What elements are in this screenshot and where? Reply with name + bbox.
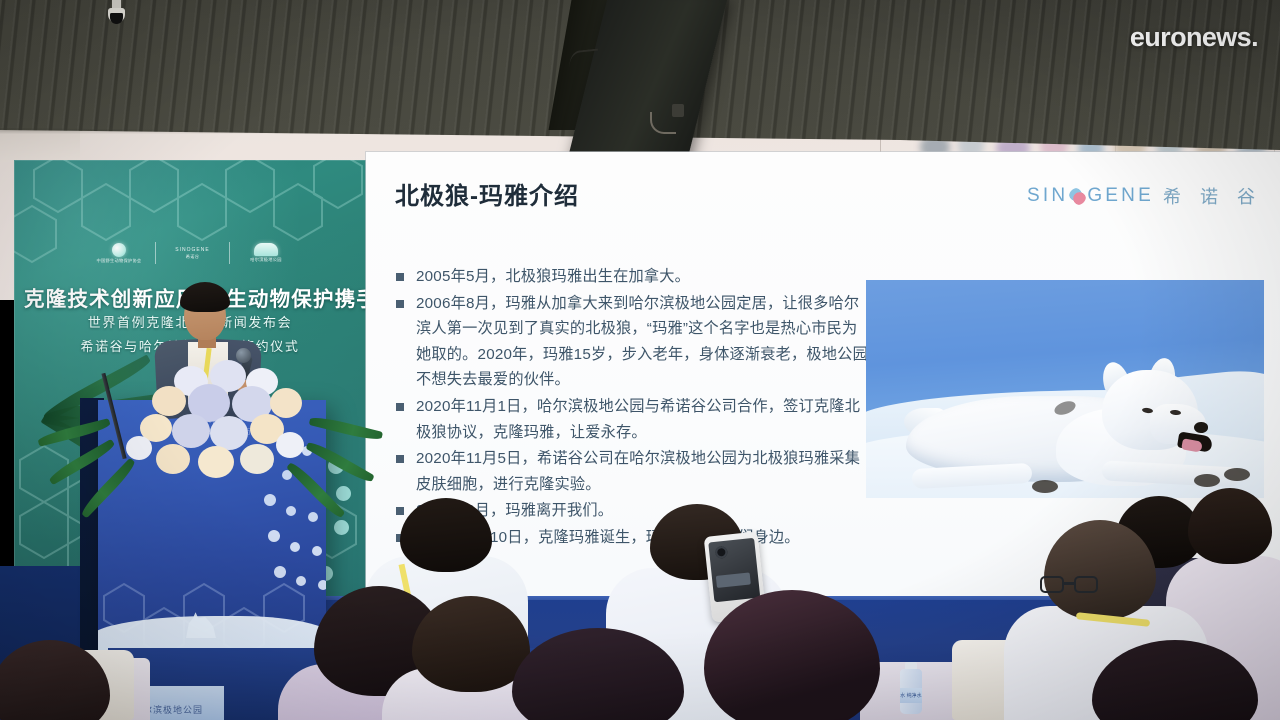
sinogene-logo-latin-part1: SIN bbox=[1027, 185, 1068, 207]
eyeglasses-icon bbox=[1040, 576, 1098, 593]
partner-logo-2: SINOGENE 希诺谷 bbox=[164, 238, 222, 268]
partner-logo-1-label: 中国野生动物保护协会 bbox=[97, 258, 142, 263]
sinogene-logo: SIN GENE 希 诺 谷 bbox=[1027, 183, 1262, 209]
bullet-square-icon bbox=[396, 455, 404, 463]
partner-logo-1: 中国野生动物保护协会 bbox=[90, 238, 148, 268]
sinogene-logo-latin-part2: GENE bbox=[1087, 185, 1154, 207]
bullet-text: 2006年8月，玛雅从加拿大来到哈尔滨极地公园定居，让很多哈尔滨人第一次见到了真… bbox=[416, 291, 868, 393]
list-item: 2020年11月1日，哈尔滨极地公园与希诺谷公司合作，签订克隆北极狼协议，克隆玛… bbox=[396, 394, 868, 445]
bottle-label-text: 水 纯净水 bbox=[900, 692, 921, 699]
partner-logo-2-label: 希诺谷 bbox=[186, 254, 199, 259]
water-bottle-icon: 水 纯净水 bbox=[900, 662, 922, 714]
bullet-text: 2020年11月5日，希诺谷公司在哈尔滨极地公园为北极狼玛雅采集皮肤细胞，进行克… bbox=[416, 446, 868, 497]
screenshot-root: 中国野生动物保护协会 SINOGENE 希诺谷 哈尔滨极地公园 克隆技术创新应用… bbox=[0, 0, 1280, 720]
circle-emblem-icon bbox=[112, 243, 126, 257]
bullet-square-icon bbox=[396, 273, 404, 281]
sinogene-logo-latin: SIN GENE bbox=[1027, 185, 1154, 207]
sinogene-logo-chinese: 希 诺 谷 bbox=[1163, 183, 1262, 209]
banner-partner-logos: 中国野生动物保护协会 SINOGENE 希诺谷 哈尔滨极地公园 bbox=[90, 238, 295, 268]
list-item: 2006年8月，玛雅从加拿大来到哈尔滨极地公园定居，让很多哈尔滨人第一次见到了真… bbox=[396, 291, 868, 393]
bullet-square-icon bbox=[396, 403, 404, 411]
arch-emblem-icon bbox=[254, 243, 278, 256]
security-camera-icon bbox=[108, 0, 125, 34]
list-item: 2020年11月5日，希诺谷公司在哈尔滨极地公园为北极狼玛雅采集皮肤细胞，进行克… bbox=[396, 446, 868, 497]
bullet-square-icon bbox=[396, 300, 404, 308]
arctic-wolf-maya-photo bbox=[866, 280, 1264, 498]
bullet-text: 2020年11月1日，哈尔滨极地公园与希诺谷公司合作，签订克隆北极狼协议，克隆玛… bbox=[416, 394, 868, 445]
slide-title: 北极狼-玛雅介绍 bbox=[395, 176, 579, 211]
attendee-long-hair-right bbox=[690, 590, 890, 720]
sinogene-o-mark-icon bbox=[1069, 188, 1086, 205]
list-item: 2005年5月，北极狼玛雅出生在加拿大。 bbox=[396, 264, 868, 290]
partner-logo-3-label: 哈尔滨极地公园 bbox=[250, 257, 281, 262]
attendee-long-hair-center bbox=[500, 628, 700, 720]
partner-logo-2-latin: SINOGENE bbox=[175, 247, 209, 253]
wall-sensor-icon bbox=[672, 104, 684, 117]
wall-cable bbox=[568, 49, 602, 92]
bullet-text: 2005年5月，北极狼玛雅出生在加拿大。 bbox=[416, 264, 868, 290]
attendee-front-right bbox=[1082, 640, 1272, 720]
logo-divider-1 bbox=[155, 242, 156, 264]
flower-arrangement bbox=[104, 352, 334, 502]
partner-logo-3: 哈尔滨极地公园 bbox=[237, 238, 295, 268]
euronews-logo: euronews. bbox=[1130, 22, 1258, 53]
attendee-far-left bbox=[0, 640, 120, 720]
logo-divider-2 bbox=[229, 242, 230, 264]
wolf-figure bbox=[906, 368, 1236, 490]
